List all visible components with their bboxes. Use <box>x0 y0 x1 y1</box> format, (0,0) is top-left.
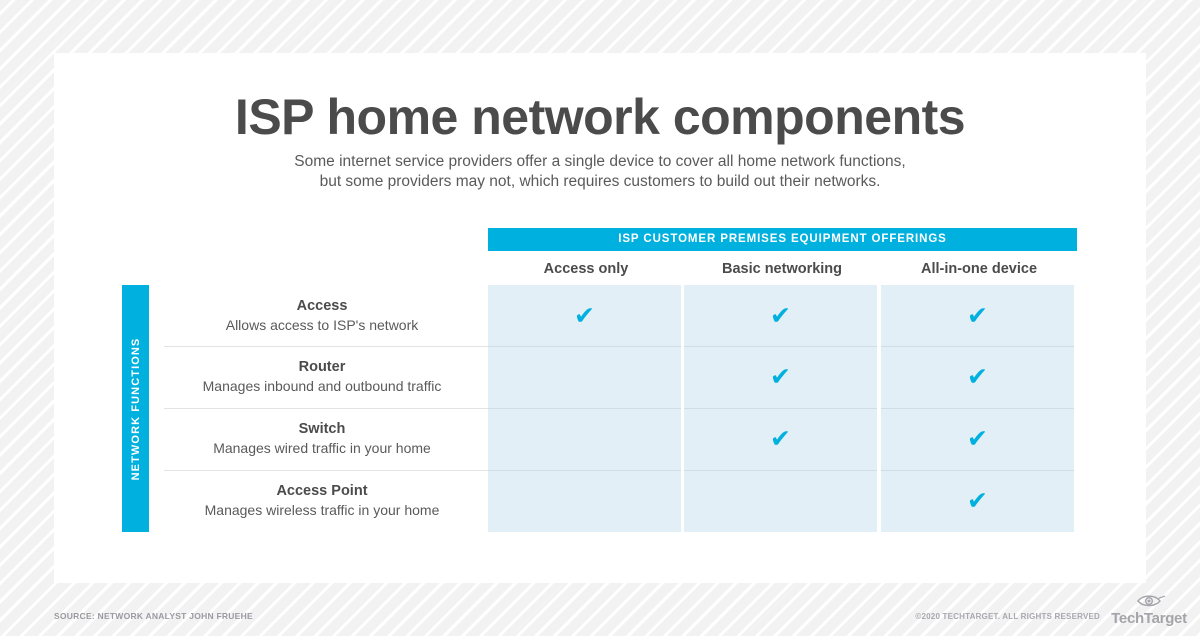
infographic-card: ISP home network components Some interne… <box>54 53 1146 583</box>
eye-icon <box>1136 592 1166 608</box>
row-title: Access <box>297 297 348 315</box>
table-row: Access Allows access to ISP's network ✔ … <box>54 285 1146 347</box>
column-header-access-only: Access only <box>488 261 684 277</box>
check-icon: ✔ <box>684 408 877 470</box>
row-description: Allows access to ISP's network <box>226 316 419 334</box>
table-row: Access Point Manages wireless traffic in… <box>54 470 1146 532</box>
matrix-cell: ✔ <box>684 408 877 470</box>
row-title: Switch <box>299 420 346 438</box>
check-icon: ✔ <box>881 285 1074 347</box>
column-header-all-in-one-device: All-in-one device <box>881 261 1077 277</box>
table-row: Switch Manages wired traffic in your hom… <box>54 408 1146 470</box>
row-title: Access Point <box>276 482 367 500</box>
check-icon: ✔ <box>684 346 877 408</box>
matrix-cell: ✔ <box>881 346 1074 408</box>
source-note: SOURCE: NETWORK ANALYST JOHN FRUEHE <box>54 611 253 621</box>
check-icon: ✔ <box>488 285 681 347</box>
matrix-cell: ✔ <box>488 346 681 408</box>
cell-separator <box>684 470 877 471</box>
row-label-access-point: Access Point Manages wireless traffic in… <box>164 470 488 532</box>
matrix-cell: ✔ <box>488 470 681 532</box>
column-group-banner: ISP CUSTOMER PREMISES EQUIPMENT OFFERING… <box>488 228 1077 251</box>
matrix-cell: ✔ <box>684 285 877 347</box>
check-icon: ✔ <box>881 408 1074 470</box>
row-description: Manages wireless traffic in your home <box>205 501 440 519</box>
row-description: Manages inbound and outbound traffic <box>203 377 442 395</box>
matrix-cell: ✔ <box>881 285 1074 347</box>
matrix-cell: ✔ <box>488 285 681 347</box>
matrix-cell: ✔ <box>881 470 1074 532</box>
check-icon: ✔ <box>881 346 1074 408</box>
cell-separator <box>488 408 681 409</box>
check-icon: ✔ <box>684 285 877 347</box>
row-title: Router <box>299 358 346 376</box>
comparison-matrix: ISP CUSTOMER PREMISES EQUIPMENT OFFERING… <box>54 53 1146 583</box>
row-label-router: Router Manages inbound and outbound traf… <box>164 346 488 408</box>
table-row: Router Manages inbound and outbound traf… <box>54 346 1146 408</box>
techtarget-wordmark: TechTarget <box>1108 610 1190 627</box>
row-description: Manages wired traffic in your home <box>213 439 431 457</box>
matrix-cell: ✔ <box>881 408 1074 470</box>
check-icon: ✔ <box>881 470 1074 532</box>
cell-separator <box>488 470 681 471</box>
row-label-switch: Switch Manages wired traffic in your hom… <box>164 408 488 470</box>
techtarget-logo: TechTarget <box>1108 592 1190 632</box>
matrix-cell: ✔ <box>488 408 681 470</box>
cell-separator <box>488 346 681 347</box>
row-label-access: Access Allows access to ISP's network <box>164 285 488 347</box>
copyright-note: ©2020 TECHTARGET. ALL RIGHTS RESERVED <box>915 612 1100 621</box>
column-header-basic-networking: Basic networking <box>684 261 880 277</box>
matrix-cell: ✔ <box>684 470 877 532</box>
matrix-cell: ✔ <box>684 346 877 408</box>
